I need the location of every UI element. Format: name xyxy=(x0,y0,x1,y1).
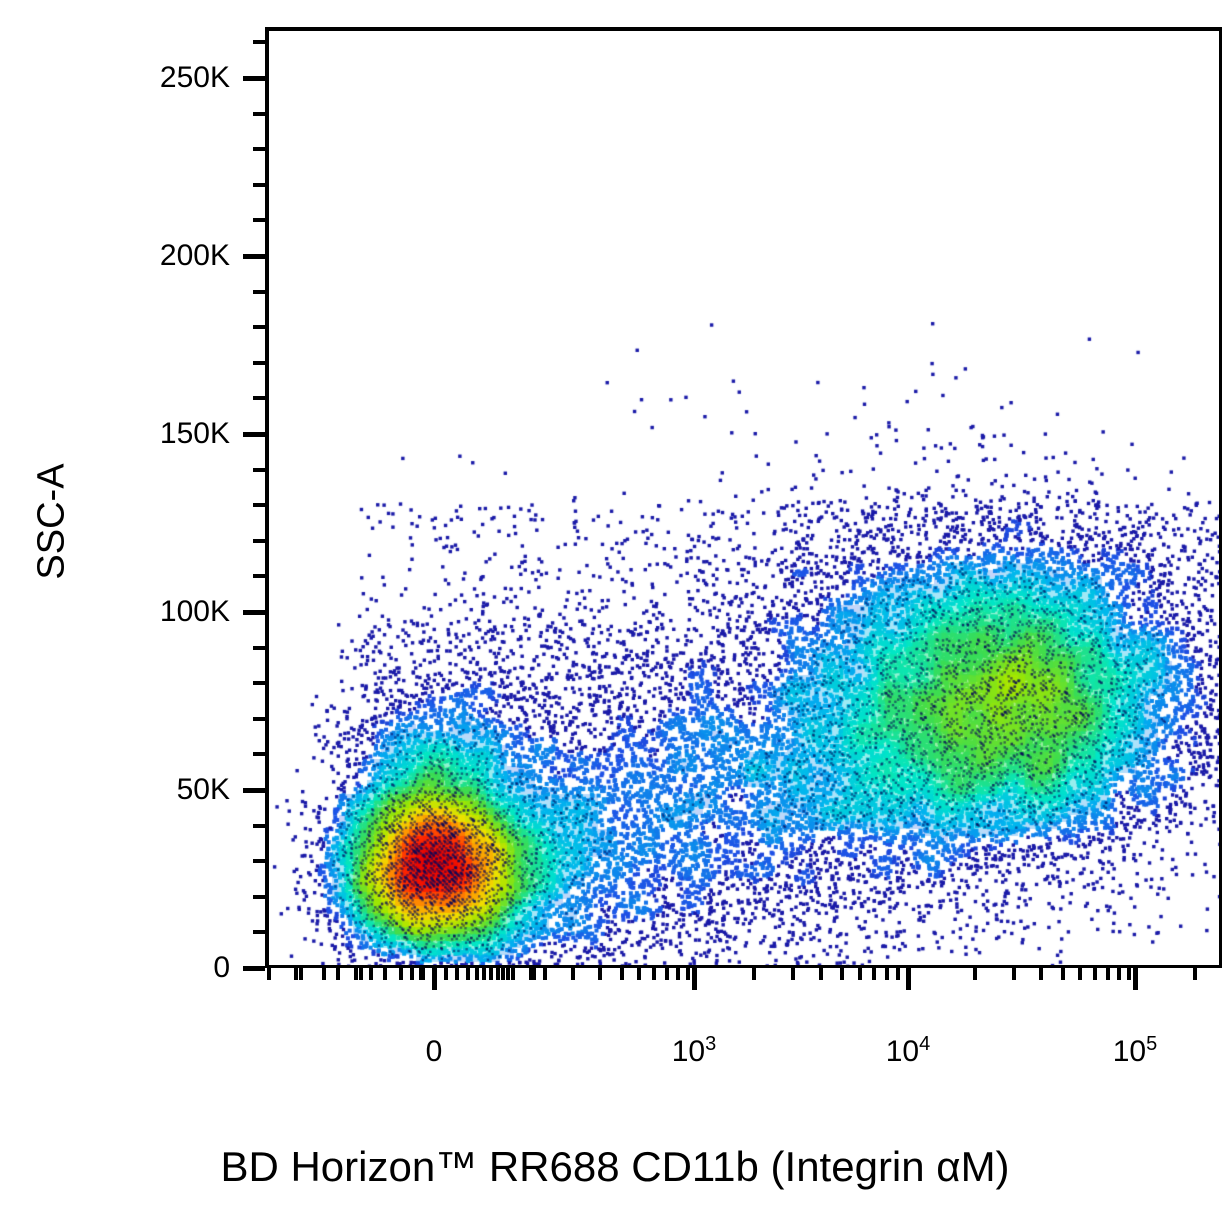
y-tick-minor xyxy=(253,824,265,828)
flow-cytometry-plot: SSC-A 050K100K150K200K250K BD Horizon™ R… xyxy=(0,0,1230,1230)
y-tick-minor xyxy=(253,40,265,44)
x-tick-minor xyxy=(501,968,505,980)
y-tick-minor xyxy=(253,183,265,187)
x-tick-minor xyxy=(299,968,303,980)
x-axis-title: BD Horizon™ RR688 CD11b (Integrin αM) xyxy=(0,1143,1230,1191)
y-tick-minor xyxy=(253,646,265,650)
x-tick-label: 0 xyxy=(426,1035,443,1069)
x-tick-label: 104 xyxy=(886,1035,931,1069)
y-tick-label: 200K xyxy=(60,239,230,273)
y-tick-major xyxy=(243,76,265,81)
x-tick-minor xyxy=(1061,968,1065,980)
x-tick-minor xyxy=(529,968,533,980)
x-tick-minor xyxy=(496,968,500,980)
x-tick-minor xyxy=(1117,968,1121,980)
scatter-canvas-wrap xyxy=(269,31,1219,965)
y-tick-minor xyxy=(253,218,265,222)
x-tick-minor xyxy=(475,968,479,980)
x-tick-minor xyxy=(444,968,448,980)
x-tick-minor xyxy=(267,968,271,980)
x-tick-minor xyxy=(637,968,641,980)
x-tick-minor xyxy=(1106,968,1110,980)
y-tick-minor xyxy=(253,468,265,472)
y-tick-minor xyxy=(253,930,265,934)
x-tick-minor xyxy=(791,968,795,980)
x-tick-major xyxy=(432,968,437,990)
y-tick-minor xyxy=(253,396,265,400)
x-tick-minor xyxy=(399,968,403,980)
y-tick-minor xyxy=(253,503,265,507)
x-tick-minor xyxy=(354,968,358,980)
x-axis-ticks xyxy=(265,968,1222,994)
y-tick-minor xyxy=(253,859,265,863)
y-tick-major xyxy=(243,966,265,971)
y-tick-minor xyxy=(253,112,265,116)
y-tick-label: 50K xyxy=(60,773,230,807)
x-tick-major xyxy=(692,968,697,990)
y-tick-minor xyxy=(253,752,265,756)
x-tick-major xyxy=(906,968,911,990)
x-tick-minor xyxy=(511,968,515,980)
x-tick-minor xyxy=(506,968,510,980)
y-tick-label: 150K xyxy=(60,417,230,451)
y-tick-minor xyxy=(253,895,265,899)
x-tick-minor xyxy=(1193,968,1197,980)
x-tick-minor xyxy=(571,968,575,980)
x-tick-minor xyxy=(455,968,459,980)
x-tick-minor xyxy=(652,968,656,980)
y-tick-minor xyxy=(253,717,265,721)
x-tick-major xyxy=(1133,968,1138,990)
y-tick-minor xyxy=(253,147,265,151)
y-tick-major xyxy=(243,254,265,259)
x-tick-minor xyxy=(1078,968,1082,980)
y-tick-label: 100K xyxy=(60,595,230,629)
x-tick-minor xyxy=(322,968,326,980)
x-tick-minor xyxy=(665,968,669,980)
y-tick-minor xyxy=(253,325,265,329)
x-tick-minor xyxy=(1012,968,1016,980)
y-tick-major xyxy=(243,432,265,437)
x-tick-minor xyxy=(383,968,387,980)
x-tick-minor xyxy=(482,968,486,980)
x-tick-minor xyxy=(858,968,862,980)
x-tick-minor xyxy=(840,968,844,980)
x-tick-label: 103 xyxy=(672,1035,717,1069)
x-tick-minor xyxy=(819,968,823,980)
x-tick-label: 105 xyxy=(1113,1035,1158,1069)
x-tick-minor xyxy=(676,968,680,980)
y-tick-major xyxy=(243,610,265,615)
y-tick-minor xyxy=(253,539,265,543)
x-tick-minor xyxy=(369,968,373,980)
x-tick-minor xyxy=(1127,968,1131,980)
x-tick-minor xyxy=(620,968,624,980)
x-tick-minor xyxy=(896,968,900,980)
x-tick-minor xyxy=(973,968,977,980)
y-tick-major xyxy=(243,788,265,793)
x-tick-minor xyxy=(1093,968,1097,980)
x-tick-minor xyxy=(359,968,363,980)
x-tick-minor xyxy=(489,968,493,980)
x-tick-minor xyxy=(872,968,876,980)
y-tick-label: 0 xyxy=(60,951,230,985)
x-tick-minor xyxy=(410,968,414,980)
x-tick-minor xyxy=(466,968,470,980)
y-tick-minor xyxy=(253,681,265,685)
density-scatter-canvas xyxy=(269,31,1219,965)
y-tick-label: 250K xyxy=(60,61,230,95)
x-tick-minor xyxy=(543,968,547,980)
x-tick-minor xyxy=(336,968,340,980)
x-tick-minor xyxy=(419,968,423,980)
x-tick-minor xyxy=(1039,968,1043,980)
x-tick-minor xyxy=(686,968,690,980)
y-axis-ticks xyxy=(265,27,266,968)
x-tick-minor xyxy=(598,968,602,980)
y-tick-minor xyxy=(253,290,265,294)
x-tick-minor xyxy=(752,968,756,980)
y-tick-minor xyxy=(253,574,265,578)
x-tick-minor xyxy=(885,968,889,980)
y-tick-minor xyxy=(253,361,265,365)
